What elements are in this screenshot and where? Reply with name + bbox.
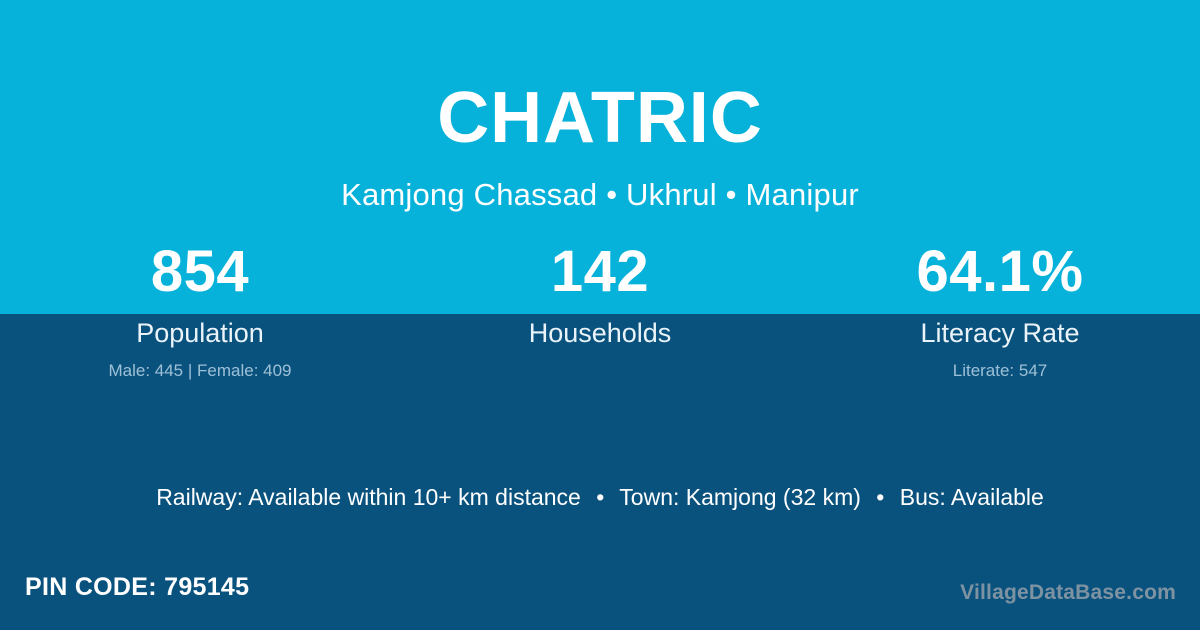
stat-sub-population: Male: 445 | Female: 409 (0, 362, 400, 381)
stat-label-households: Households (400, 319, 800, 349)
breadcrumb-location: Kamjong Chassad • Ukhrul • Manipur (0, 154, 1200, 212)
card-header: CHATRIC Kamjong Chassad • Ukhrul • Manip… (0, 0, 1200, 212)
infra-nearest-town: Town: Kamjong (32 km) (619, 484, 861, 510)
stat-sub-households (400, 362, 800, 381)
stat-label-population: Population (0, 319, 400, 349)
stat-population: 854 Population Male: 445 | Female: 409 (0, 243, 400, 381)
stat-value-households: 142 (400, 243, 800, 301)
infra-railway: Railway: Available within 10+ km distanc… (156, 484, 581, 510)
infra-separator-2: • (867, 484, 893, 512)
card-footer: PIN CODE: 795145 VillageDataBase.com (0, 570, 1200, 630)
pin-code: PIN CODE: 795145 (25, 574, 249, 602)
infra-separator-1: • (587, 484, 613, 512)
stats-row: 854 Population Male: 445 | Female: 409 1… (0, 243, 1200, 381)
infrastructure-summary: Railway: Available within 10+ km distanc… (0, 484, 1200, 512)
infra-bus: Bus: Available (900, 484, 1044, 510)
stat-sub-literacy-rate: Literate: 547 (800, 362, 1200, 381)
stat-literacy-rate: 64.1% Literacy Rate Literate: 547 (800, 243, 1200, 381)
page-title: CHATRIC (0, 0, 1200, 154)
brand-watermark: VillageDataBase.com (960, 581, 1176, 604)
stat-label-literacy-rate: Literacy Rate (800, 319, 1200, 349)
stat-value-population: 854 (0, 243, 400, 301)
stat-value-literacy-rate: 64.1% (800, 243, 1200, 301)
village-info-card: CHATRIC Kamjong Chassad • Ukhrul • Manip… (0, 0, 1200, 630)
stat-households: 142 Households (400, 243, 800, 381)
